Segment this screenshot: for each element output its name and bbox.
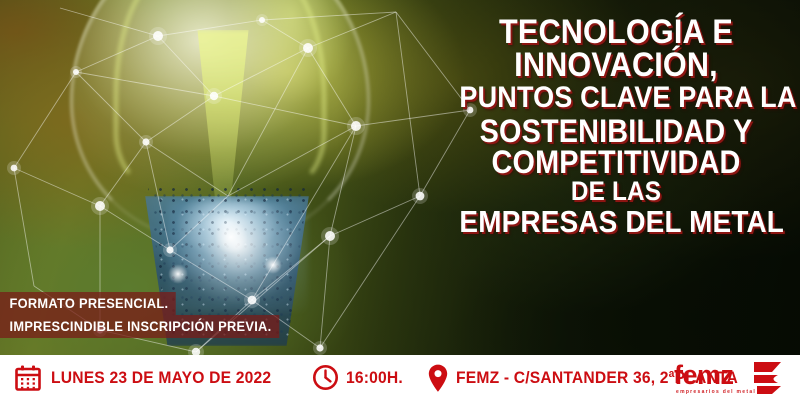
event-banner: TECNOLOGÍA E INNOVACIÓN, PUNTOS CLAVE PA… (0, 0, 800, 400)
headline-line-1: TECNOLOGÍA E (459, 16, 772, 49)
note-registration: IMPRESCINDIBLE INSCRIPCIÓN PREVIA. (0, 315, 279, 338)
calendar-icon (14, 364, 42, 392)
note-format: FORMATO PRESENCIAL. (0, 292, 176, 315)
headline-line-2: INNOVACIÓN, (459, 49, 772, 82)
event-time: 16:00H. (312, 364, 408, 391)
femz-logo: femz empresarios del metal (674, 358, 792, 396)
headline-line-3: PUNTOS CLAVE PARA LA (459, 84, 772, 113)
femz-tagline: empresarios del metal (676, 389, 756, 395)
clock-icon (312, 364, 339, 391)
headline-line-7: EMPRESAS DEL METAL (459, 207, 772, 237)
headline-line-4: SOSTENIBILIDAD Y (459, 116, 772, 147)
event-date: LUNES 23 DE MAYO DE 2022 (14, 364, 290, 392)
event-date-text: LUNES 23 DE MAYO DE 2022 (51, 368, 271, 388)
event-time-text: 16:00H. (346, 368, 403, 388)
headline-line-5: COMPETITIVIDAD (459, 147, 772, 178)
page-title: TECNOLOGÍA E INNOVACIÓN, PUNTOS CLAVE PA… (459, 16, 772, 237)
femz-mark (754, 362, 781, 394)
attendance-notes: FORMATO PRESENCIAL. IMPRESCINDIBLE INSCR… (0, 292, 294, 338)
headline-line-6: DE LAS (459, 179, 772, 205)
event-details-bar: LUNES 23 DE MAYO DE 2022 16:00H. FEMZ - … (0, 355, 800, 400)
map-pin-icon (426, 363, 450, 393)
femz-wordmark: femz (674, 360, 734, 390)
